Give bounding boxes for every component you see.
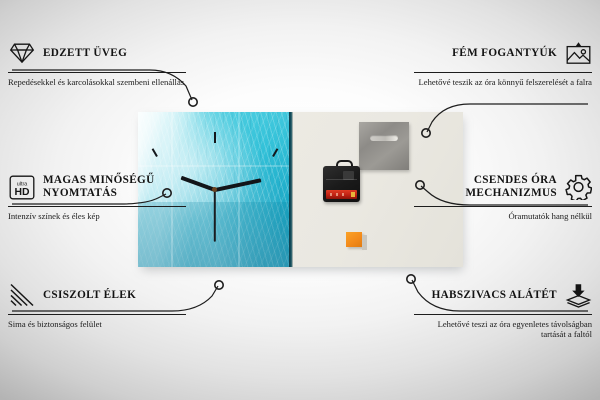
feature-polished-edges[interactable]: CSISZOLT ÉLEK Sima és biztonságos felüle… <box>8 280 186 329</box>
feature-rule <box>414 72 592 73</box>
feature-tempered-glass[interactable]: EDZETT ÜVEG Repedésekkel és karcolásokka… <box>8 38 186 87</box>
foam-spacer-icon <box>565 282 592 309</box>
battery-band-2 <box>336 193 338 196</box>
foam-pad-side <box>362 235 367 250</box>
feature-header: CSENDES ÓRA MECHANIZMUS <box>414 172 592 202</box>
feature-rule <box>8 314 186 315</box>
feature-subtitle: Lehetővé teszik az óra könnyű felszerelé… <box>414 77 592 87</box>
feature-subtitle: Sima és biztonságos felület <box>8 319 186 329</box>
connector-dot-edges <box>215 281 223 289</box>
feature-title: MAGAS MINŐSÉGŰ NYOMTATÁS <box>43 174 186 200</box>
feature-title: CSENDES ÓRA MECHANIZMUS <box>414 174 557 200</box>
clock-mechanism <box>323 164 360 202</box>
feature-header: ultra HD MAGAS MINŐSÉGŰ NYOMTATÁS <box>8 172 186 202</box>
battery-band-3 <box>342 193 344 196</box>
metal-hanger-plate <box>359 122 409 170</box>
feature-subtitle: Lehetővé teszi az óra egyenletes távolsá… <box>414 319 592 340</box>
connector-dot-glass <box>189 98 197 106</box>
feature-header: EDZETT ÜVEG <box>8 38 186 68</box>
feature-header: CSISZOLT ÉLEK <box>8 280 186 310</box>
feature-foam-spacer[interactable]: HABSZIVACS ALÁTÉT Lehetővé teszi az óra … <box>414 280 592 340</box>
picture-hanger-icon <box>565 40 592 67</box>
feature-title: CSISZOLT ÉLEK <box>43 289 136 302</box>
mechanism-body <box>323 166 360 202</box>
feature-subtitle: Repedésekkel és karcolásokkal szembeni e… <box>8 77 186 87</box>
feature-rule <box>414 314 592 315</box>
feature-title: HABSZIVACS ALÁTÉT <box>432 289 557 302</box>
feature-subtitle: Óramutatók hang nélkül <box>414 211 592 221</box>
battery-terminal <box>351 192 355 197</box>
clock-marker-12 <box>214 132 216 143</box>
clock-second-hand <box>214 190 216 242</box>
gear-icon <box>565 174 592 201</box>
feature-header: FÉM FOGANTYÚK <box>414 38 592 68</box>
glass-seam-vertical-right <box>238 112 240 267</box>
feature-title: EDZETT ÜVEG <box>43 47 127 60</box>
feature-title: FÉM FOGANTYÚK <box>452 47 557 60</box>
feature-quiet-mechanism[interactable]: CSENDES ÓRA MECHANIZMUS Óramutatók hang … <box>414 172 592 221</box>
diamond-icon <box>8 40 35 67</box>
foam-pad <box>346 232 362 247</box>
infographic-canvas: EDZETT ÜVEG Repedésekkel és karcolásokka… <box>0 0 600 400</box>
feature-metal-handles[interactable]: FÉM FOGANTYÚK Lehetővé teszik az óra kön… <box>414 38 592 87</box>
hanger-slot <box>370 135 398 141</box>
battery-band-1 <box>330 193 332 196</box>
svg-text:HD: HD <box>14 187 30 198</box>
polished-edges-icon <box>8 282 35 309</box>
glass-seam-horizontal <box>138 165 291 167</box>
feature-subtitle: Intenzív színek és éles kép <box>8 211 186 221</box>
clock-center-cap <box>212 187 217 192</box>
mechanism-seam <box>326 179 357 180</box>
battery <box>326 190 357 199</box>
feature-high-quality-print[interactable]: ultra HD MAGAS MINŐSÉGŰ NYOMTATÁS Intenz… <box>8 172 186 221</box>
feature-header: HABSZIVACS ALÁTÉT <box>414 280 592 310</box>
feature-rule <box>8 72 186 73</box>
panel-divider <box>289 112 293 267</box>
feature-rule <box>414 206 592 207</box>
feature-rule <box>8 206 186 207</box>
ultra-hd-badge-icon: ultra HD <box>8 174 35 201</box>
